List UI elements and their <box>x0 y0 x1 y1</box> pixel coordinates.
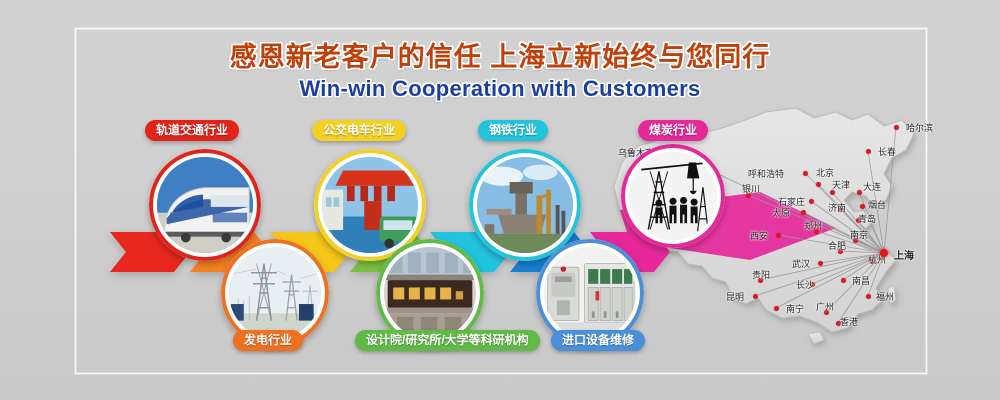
city-label: 南昌 <box>852 274 870 287</box>
city-label: 昆明 <box>726 290 744 303</box>
city-dot <box>866 149 871 154</box>
city-label: 香港 <box>840 315 858 328</box>
industry-circle-coal[interactable] <box>621 144 725 248</box>
city-dot <box>809 199 814 204</box>
industry-label-coal[interactable]: 煤炭行业 <box>638 120 708 141</box>
city-label: 长春 <box>878 145 896 158</box>
industry-label-power[interactable]: 发电行业 <box>233 330 303 351</box>
city-label: 广州 <box>816 300 834 313</box>
city-dot <box>841 278 846 283</box>
city-dot <box>776 233 781 238</box>
city-label: 银川 <box>742 182 760 195</box>
city-dot <box>866 294 871 299</box>
city-label: 西安 <box>750 229 768 242</box>
industry-label-research[interactable]: 设计院/研究所/大学等科研机构 <box>355 330 540 351</box>
industry-label-steel[interactable]: 钢铁行业 <box>478 120 548 141</box>
city-label: 南京 <box>850 228 868 241</box>
city-dot <box>803 171 808 176</box>
city-label: 大连 <box>863 180 881 193</box>
city-label: 天津 <box>832 178 850 191</box>
headline-block: 感恩新老客户的信任 上海立新始终与您同行 Win-win Cooperation… <box>0 42 1000 101</box>
industry-label-import[interactable]: 进口设备维修 <box>551 330 645 351</box>
city-label: 济南 <box>828 201 846 214</box>
circle-ring-rail <box>149 149 261 261</box>
city-dot <box>816 182 821 187</box>
city-label: 上海 <box>894 247 914 262</box>
title-chinese: 感恩新老客户的信任 上海立新始终与您同行 <box>0 42 1000 72</box>
industry-label-rail[interactable]: 轨道交通行业 <box>145 120 239 141</box>
city-dot <box>801 210 806 215</box>
city-dot <box>894 125 899 130</box>
city-dot <box>857 190 862 195</box>
city-dot <box>753 294 758 299</box>
city-label: 青岛 <box>858 212 876 225</box>
city-label: 太原 <box>772 206 790 219</box>
city-label: 长沙 <box>796 278 814 291</box>
city-dot <box>880 249 888 257</box>
city-dot <box>860 204 865 209</box>
circle-ring-coal <box>621 144 725 248</box>
title-english: Win-win Cooperation with Customers <box>0 76 1000 101</box>
industry-circle-rail[interactable] <box>149 149 261 261</box>
city-label: 南宁 <box>786 302 804 315</box>
city-label: 哈尔滨 <box>906 121 933 134</box>
city-dot <box>818 261 823 266</box>
city-label: 福州 <box>876 290 894 303</box>
city-label: 呼和浩特 <box>748 167 784 180</box>
city-label: 郑州 <box>804 219 822 232</box>
city-label: 合肥 <box>828 239 846 252</box>
city-label: 贵阳 <box>752 268 770 281</box>
city-label: 武汉 <box>792 257 810 270</box>
industry-label-bus[interactable]: 公交电车行业 <box>312 120 406 141</box>
city-label: 烟台 <box>868 198 886 211</box>
city-dot <box>774 306 779 311</box>
banner-stage: 哈尔滨长春乌鲁木齐呼和浩特北京天津大连银川石家庄济南烟台太原青岛西安郑州南京合肥… <box>0 0 1000 400</box>
